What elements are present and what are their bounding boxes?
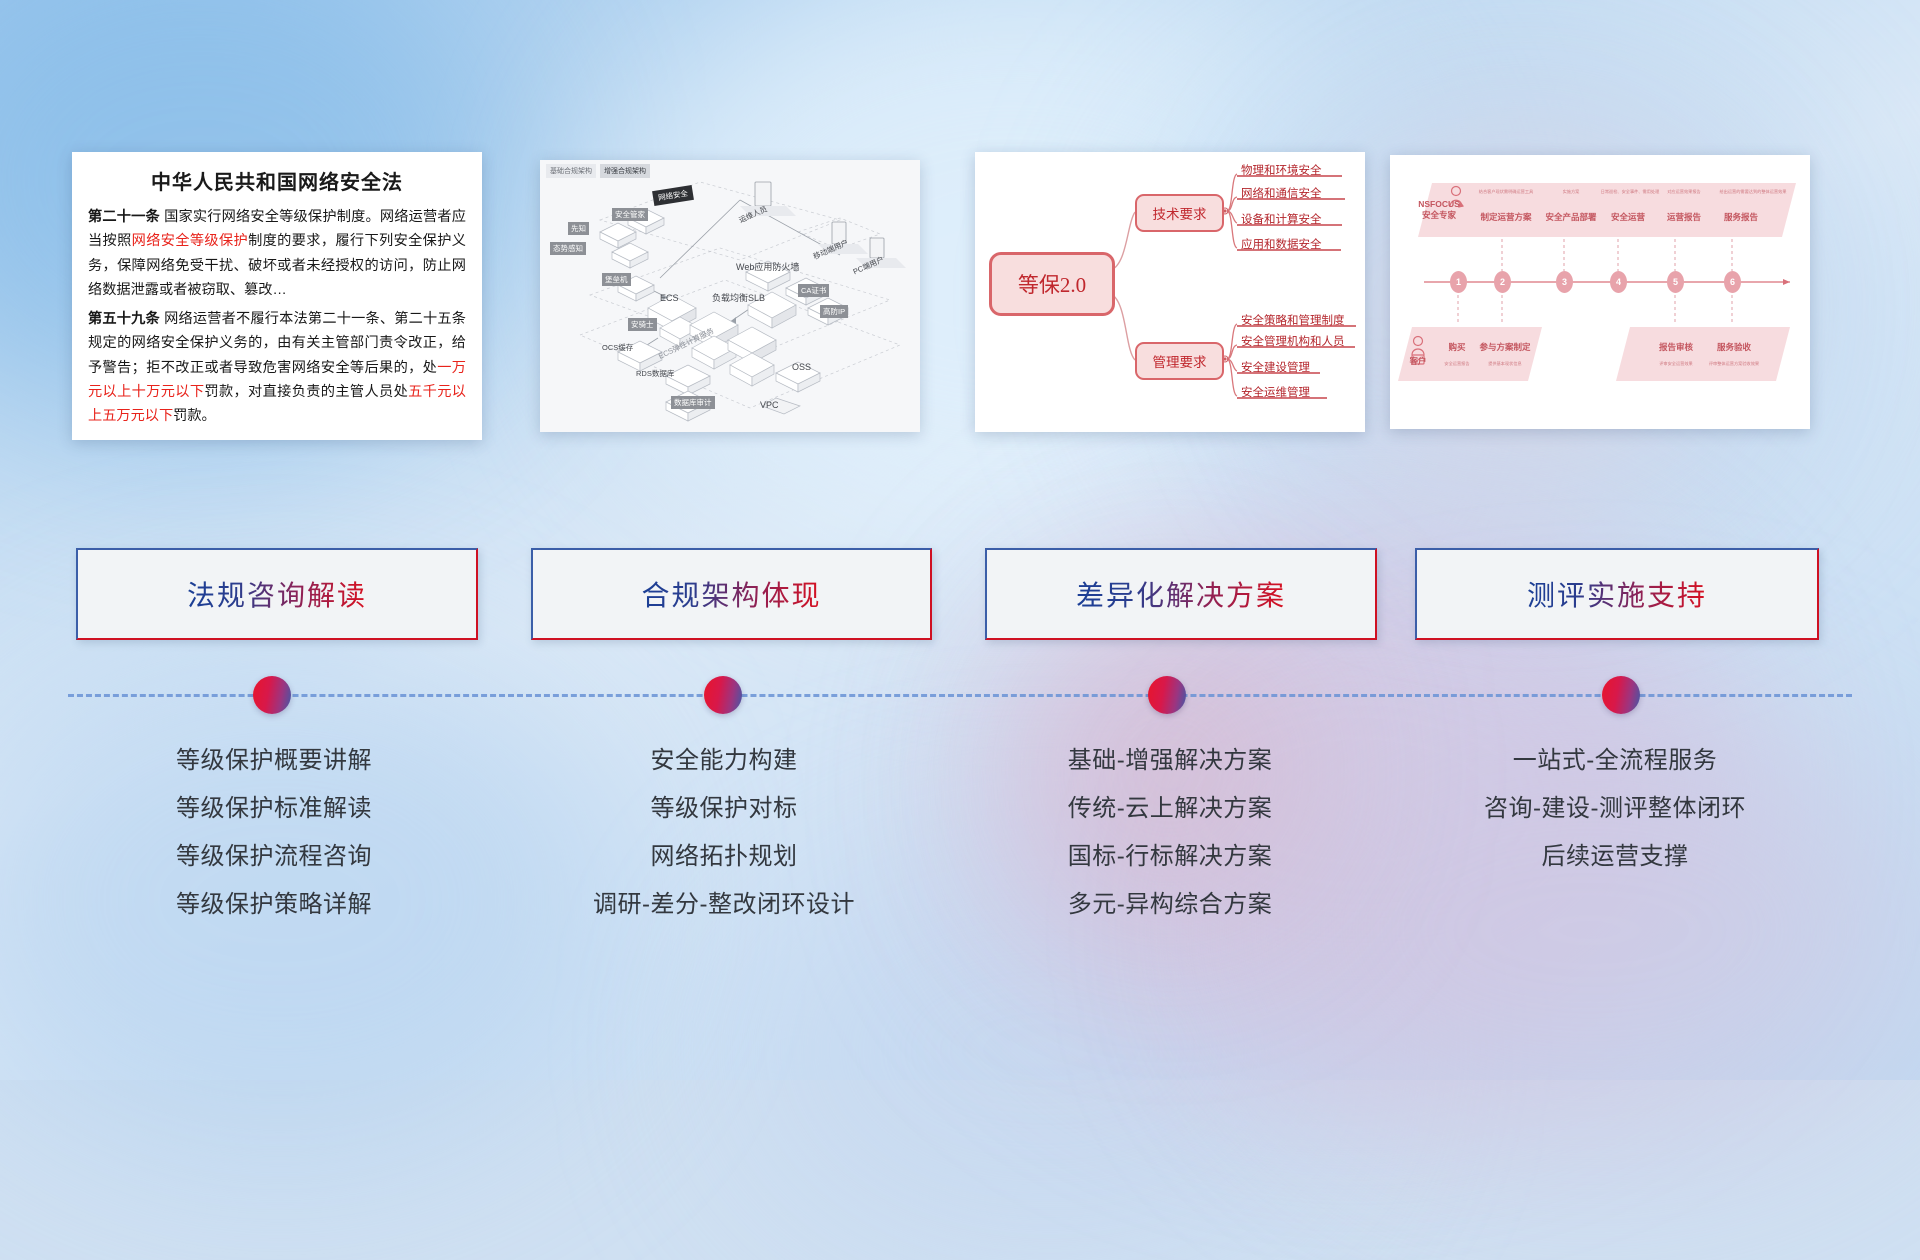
pill-label: 差异化解决方案	[1076, 574, 1286, 614]
feature-column-solution: 基础-增强解决方案 传统-云上解决方案 国标-行标解决方案 多元-异构综合方案	[960, 738, 1380, 930]
pill-button-regulation-consulting[interactable]: 法规咨询解读	[76, 548, 478, 640]
list-item: 等级保护对标	[514, 786, 934, 834]
list-item: 安全能力构建	[514, 738, 934, 786]
list-item: 等级保护流程咨询	[64, 834, 484, 882]
list-item: 多元-异构综合方案	[960, 882, 1380, 930]
feature-column-architecture: 安全能力构建 等级保护对标 网络拓扑规划 调研-差分-整改闭环设计	[514, 738, 934, 930]
pill-button-assessment-support[interactable]: 测评实施支持	[1415, 548, 1819, 640]
feature-column-regulation: 等级保护概要讲解 等级保护标准解读 等级保护流程咨询 等级保护策略详解	[64, 738, 484, 930]
pill-button-differentiated-solution[interactable]: 差异化解决方案	[985, 548, 1377, 640]
timeline-dot[interactable]	[253, 676, 291, 714]
pill-button-compliance-architecture[interactable]: 合规架构体现	[531, 548, 932, 640]
pill-label: 测评实施支持	[1527, 574, 1707, 614]
pill-label: 法规咨询解读	[187, 574, 367, 614]
list-item: 调研-差分-整改闭环设计	[514, 882, 934, 930]
feature-column-assessment: 一站式-全流程服务 咨询-建设-测评整体闭环 后续运营支撑	[1400, 738, 1830, 882]
pill-label: 合规架构体现	[641, 574, 821, 614]
timeline-dashed-line	[68, 694, 1852, 697]
pill-button-row: 法规咨询解读 合规架构体现 差异化解决方案 测评实施支持 等级保护概要讲解 等级…	[0, 0, 1920, 1080]
list-item: 一站式-全流程服务	[1400, 738, 1830, 786]
list-item: 后续运营支撑	[1400, 834, 1830, 882]
timeline-dot[interactable]	[1602, 676, 1640, 714]
list-item: 等级保护策略详解	[64, 882, 484, 930]
list-item: 等级保护概要讲解	[64, 738, 484, 786]
timeline-dot[interactable]	[704, 676, 742, 714]
list-item: 等级保护标准解读	[64, 786, 484, 834]
list-item: 国标-行标解决方案	[960, 834, 1380, 882]
timeline-dot[interactable]	[1148, 676, 1186, 714]
list-item: 咨询-建设-测评整体闭环	[1400, 786, 1830, 834]
list-item: 基础-增强解决方案	[960, 738, 1380, 786]
list-item: 网络拓扑规划	[514, 834, 934, 882]
list-item: 传统-云上解决方案	[960, 786, 1380, 834]
